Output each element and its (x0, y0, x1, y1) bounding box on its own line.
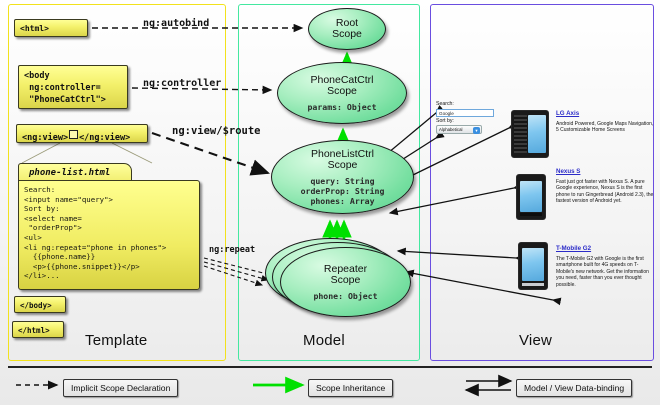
phone-keyboard-1 (514, 115, 527, 153)
edge-label-ng-autobind: ng:autobind (143, 18, 209, 29)
phone-list-item-3: T-Mobile G2 The T-Mobile G2 with Google … (556, 245, 656, 288)
file-card-title: phone-list.html (18, 163, 132, 181)
phone-list-item-1: LG Axis Android Powered, Google Maps Nav… (556, 110, 656, 134)
legend-item-scope-inheritance: Scope Inheritance (308, 379, 393, 397)
code-box-body-close: </body> (14, 296, 66, 313)
scope-repeater-name: RepeaterScope (324, 264, 367, 287)
scope-phonecatctrl-props: params: Object (307, 102, 376, 112)
scope-repeater-props: phone: Object (313, 291, 377, 301)
sort-label: Sort by: (436, 118, 498, 125)
phone-thumbnail-1 (511, 110, 549, 158)
scope-phonecatctrl-name: PhoneCatCtrlScope (310, 75, 373, 98)
file-card-code: Search: <input name="query"> Sort by: <s… (18, 180, 200, 290)
edge-label-ng-controller: ng:controller (143, 78, 221, 89)
ngview-open-tag: <ng:view> (22, 133, 68, 143)
legend-item-implicit-scope-declaration: Implicit Scope Declaration (63, 379, 178, 397)
phone-screen-1 (528, 115, 546, 153)
phone-thumbnail-3 (518, 242, 548, 290)
diagram-canvas: <html> <body ng:controller= "PhoneCatCtr… (0, 0, 660, 405)
ngview-close-tag: </ng:view> (79, 133, 130, 143)
legend-divider (8, 366, 652, 368)
sort-select-value: Alphabetical (439, 127, 462, 132)
edge-label-ng-repeat: ng:repeat (209, 245, 255, 255)
sort-select[interactable]: Alphabetical ▾ (436, 125, 482, 134)
code-box-body-text: <body ng:controller= "PhoneCatCtrl"> (24, 71, 106, 105)
phone-snippet-2: Fast just got faster with Nexus S. A pur… (556, 179, 656, 205)
scope-phonelistctrl-name: PhoneListCtrlScope (311, 149, 374, 172)
edge-label-ng-view-route: ng:view/$route (172, 125, 261, 137)
file-card-phone-list: phone-list.html Search: <input name="que… (18, 163, 200, 291)
phone-list-item-2: Nexus S Fast just got faster with Nexus … (556, 168, 656, 205)
code-box-html-open: <html> (14, 19, 88, 37)
search-label: Search: (436, 101, 498, 108)
phone-name-link-3[interactable]: T-Mobile G2 (556, 245, 656, 253)
scope-phonelistctrl: PhoneListCtrlScope query: String orderPr… (271, 140, 414, 214)
scope-repeater: RepeaterScope phone: Object (280, 247, 411, 317)
phone-buttons-2 (520, 213, 542, 216)
phone-snippet-1: Android Powered, Google Maps Navigation,… (556, 121, 656, 134)
view-search-form: Search: Google Sort by: Alphabetical ▾ (436, 101, 498, 134)
scope-root-name: RootScope (332, 18, 362, 41)
phone-name-link-2[interactable]: Nexus S (556, 168, 656, 176)
phone-thumbnail-2 (516, 174, 546, 220)
phone-snippet-3: The T-Mobile G2 with Google is the first… (556, 256, 656, 288)
panel-label-model: Model (303, 332, 345, 349)
legend: Implicit Scope Declaration Scope Inherit… (0, 366, 660, 405)
code-box-body-open: <body ng:controller= "PhoneCatCtrl"> (18, 65, 128, 109)
chevron-down-icon: ▾ (473, 127, 480, 134)
phone-screen-2 (520, 181, 542, 212)
ngview-placeholder-icon (69, 130, 78, 139)
scope-phonecatctrl: PhoneCatCtrlScope params: Object (277, 62, 407, 124)
legend-item-model-view-data-binding: Model / View Data-binding (516, 379, 632, 397)
scope-phonelistctrl-props: query: String orderProp: String phones: … (301, 176, 385, 206)
panel-label-template: Template (85, 332, 147, 349)
phone-name-link-1[interactable]: LG Axis (556, 110, 656, 118)
panel-label-view: View (519, 332, 552, 349)
scope-root: RootScope (308, 8, 386, 50)
search-input[interactable]: Google (436, 109, 494, 117)
code-box-html-close: </html> (12, 321, 64, 338)
phone-buttons-3 (522, 283, 544, 286)
phone-screen-3 (522, 248, 544, 281)
code-box-ngview: <ng:view></ng:view> (16, 124, 148, 143)
